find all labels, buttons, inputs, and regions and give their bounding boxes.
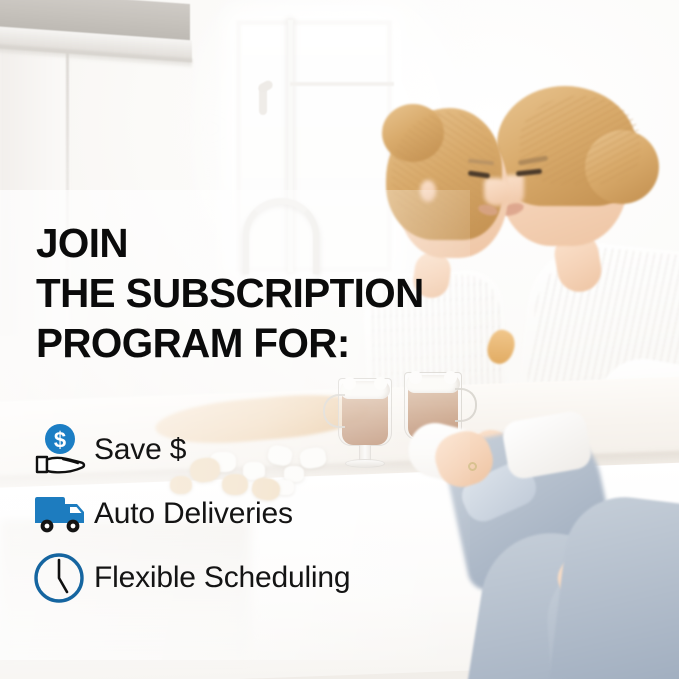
mug-marshmallow-topping bbox=[340, 381, 390, 399]
headline-line-2: THE SUBSCRIPTION bbox=[36, 268, 424, 318]
hand-holding-dollar-coin-icon: $ bbox=[32, 421, 94, 479]
feature-label-save: Save $ bbox=[94, 433, 186, 467]
headline-line-3: PROGRAM FOR: bbox=[36, 318, 424, 368]
feature-label-auto-deliveries: Auto Deliveries bbox=[94, 497, 293, 531]
headline-line-1: JOIN bbox=[36, 218, 424, 268]
feature-list: $ Save $ bbox=[32, 418, 452, 610]
feature-item-auto-deliveries: Auto Deliveries bbox=[32, 482, 452, 546]
clock-icon bbox=[32, 549, 94, 607]
delivery-truck-icon bbox=[32, 485, 94, 543]
headline-block: JOIN THE SUBSCRIPTION PROGRAM FOR: bbox=[36, 218, 430, 368]
svg-text:$: $ bbox=[54, 428, 66, 453]
feature-item-flexible-scheduling: Flexible Scheduling bbox=[32, 546, 452, 610]
feature-item-save: $ Save $ bbox=[32, 418, 452, 482]
child-nose bbox=[484, 178, 512, 206]
advertisement-image: JOIN THE SUBSCRIPTION PROGRAM FOR: $ Sav… bbox=[0, 0, 679, 679]
ring bbox=[468, 462, 477, 471]
child-ear bbox=[420, 180, 436, 202]
window-mullion-horizontal bbox=[290, 82, 394, 86]
mug-marshmallow-topping bbox=[406, 375, 460, 393]
feature-label-flexible-scheduling: Flexible Scheduling bbox=[94, 561, 350, 595]
